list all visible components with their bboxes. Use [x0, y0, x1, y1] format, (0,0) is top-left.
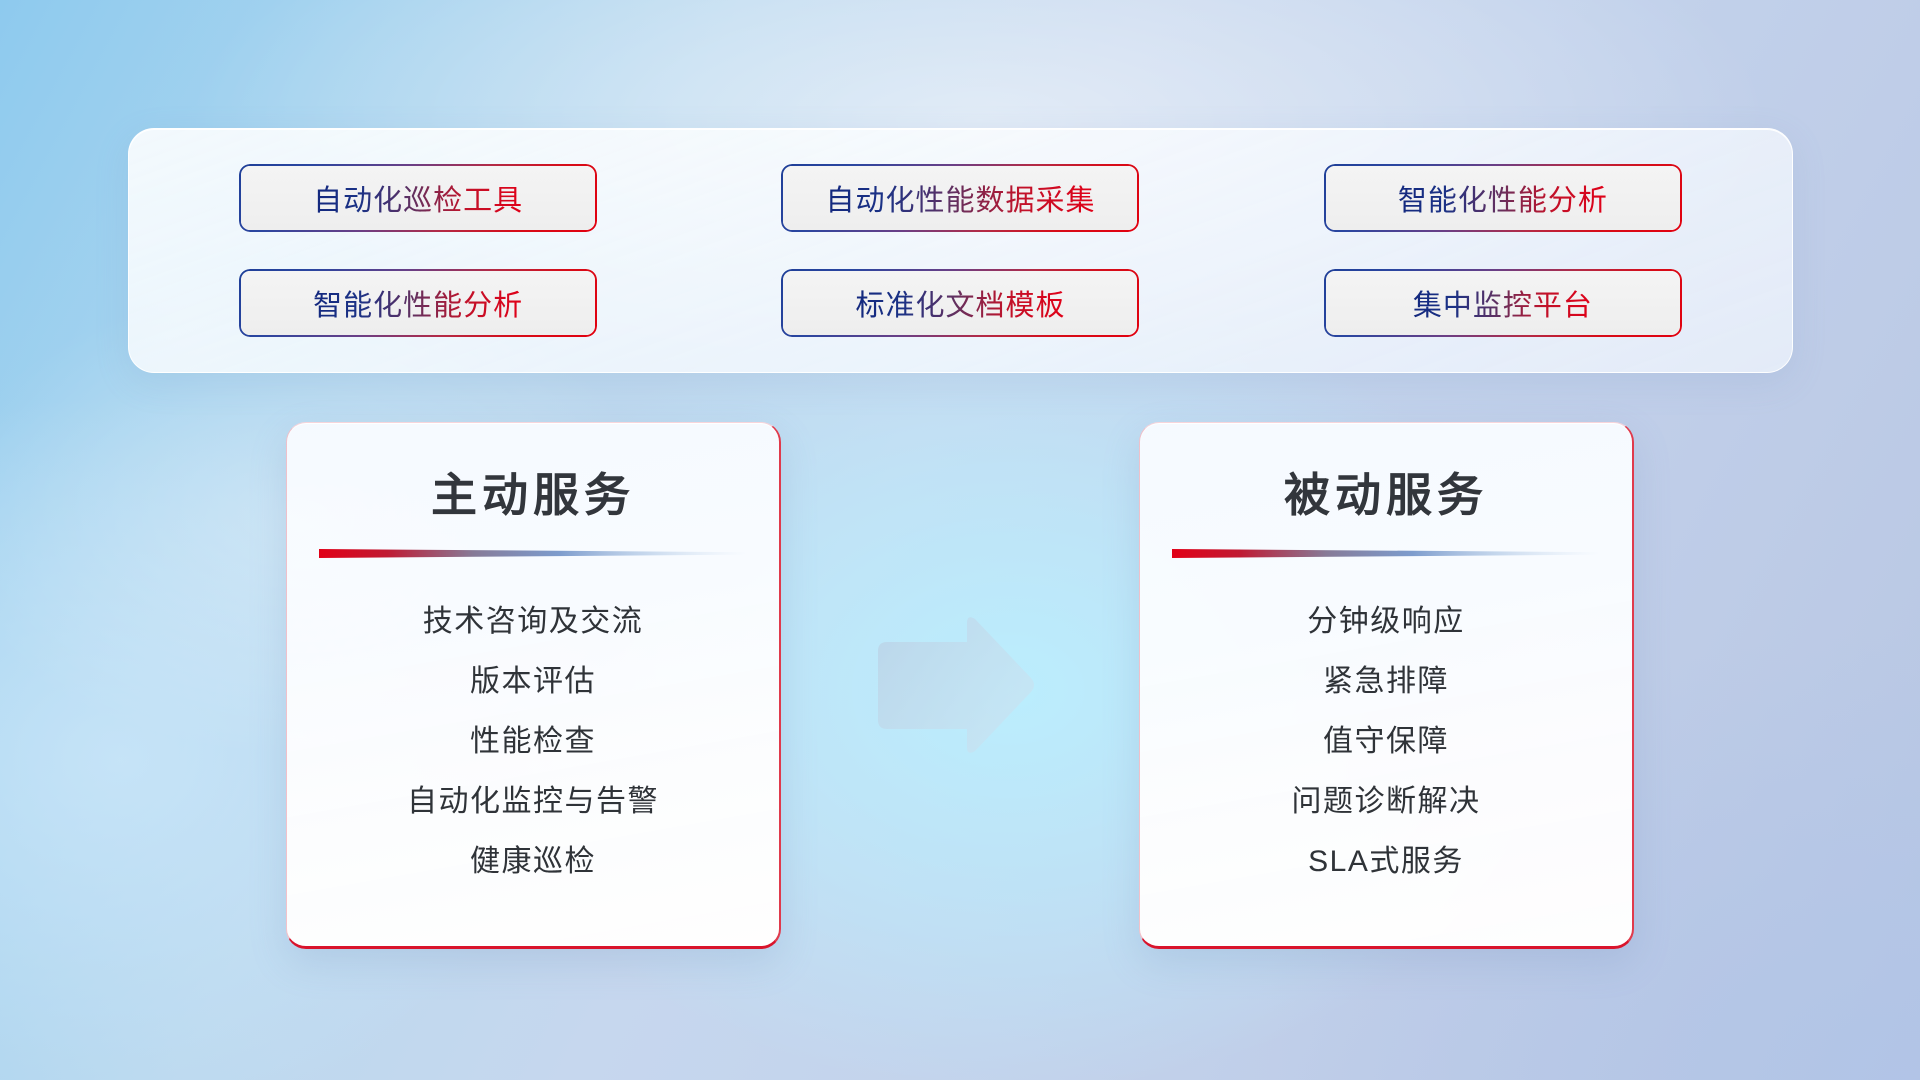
service-list-item: 值守保障 [1323, 712, 1449, 772]
service-list-item: 性能检查 [470, 712, 596, 772]
capability-tag-label: 标准化文档模板 [855, 282, 1065, 324]
capability-tags-panel: 自动化巡检工具 自动化性能数据采集 智能化性能分析 智能化性能分析 标准化文档模… [128, 128, 1793, 373]
capability-tag-label: 自动化巡检工具 [313, 177, 523, 219]
capability-tag[interactable]: 智能化性能分析 [239, 269, 597, 337]
diagram-canvas: 自动化巡检工具 自动化性能数据采集 智能化性能分析 智能化性能分析 标准化文档模… [0, 0, 1920, 1080]
service-item-list: 技术咨询及交流 版本评估 性能检查 自动化监控与告警 健康巡检 [287, 592, 779, 892]
card-divider [1172, 549, 1600, 558]
arrow-right-icon [872, 613, 1037, 758]
card-title: 被动服务 [1140, 459, 1632, 525]
service-list-item: 健康巡检 [470, 832, 596, 892]
service-list-item: 问题诊断解决 [1292, 772, 1481, 832]
service-card-reactive: 被动服务 分钟级响应 紧急排障 值守保障 [1139, 422, 1634, 949]
service-list-item: 版本评估 [470, 652, 596, 712]
service-list-item: 技术咨询及交流 [423, 592, 644, 652]
service-list-item: 自动化监控与告警 [407, 772, 659, 832]
card-title: 主动服务 [287, 459, 779, 525]
capability-tag[interactable]: 自动化巡检工具 [239, 164, 597, 232]
service-list-item: SLA式服务 [1308, 832, 1464, 892]
capability-tag[interactable]: 标准化文档模板 [781, 269, 1139, 337]
service-card-proactive: 主动服务 技术咨询及交流 版本评估 性能检查 [286, 422, 781, 949]
capability-tag-label: 智能化性能分析 [1398, 177, 1608, 219]
capability-tag[interactable]: 智能化性能分析 [1324, 164, 1682, 232]
capability-tag-label: 智能化性能分析 [313, 282, 523, 324]
card-divider [319, 549, 747, 558]
capability-tag-label: 自动化性能数据采集 [825, 177, 1095, 219]
capability-tag-label: 集中监控平台 [1413, 282, 1593, 324]
service-list-item: 分钟级响应 [1307, 592, 1465, 652]
capability-tag[interactable]: 自动化性能数据采集 [781, 164, 1139, 232]
service-list-item: 紧急排障 [1323, 652, 1449, 712]
service-item-list: 分钟级响应 紧急排障 值守保障 问题诊断解决 SLA式服务 [1140, 592, 1632, 892]
capability-tag[interactable]: 集中监控平台 [1324, 269, 1682, 337]
